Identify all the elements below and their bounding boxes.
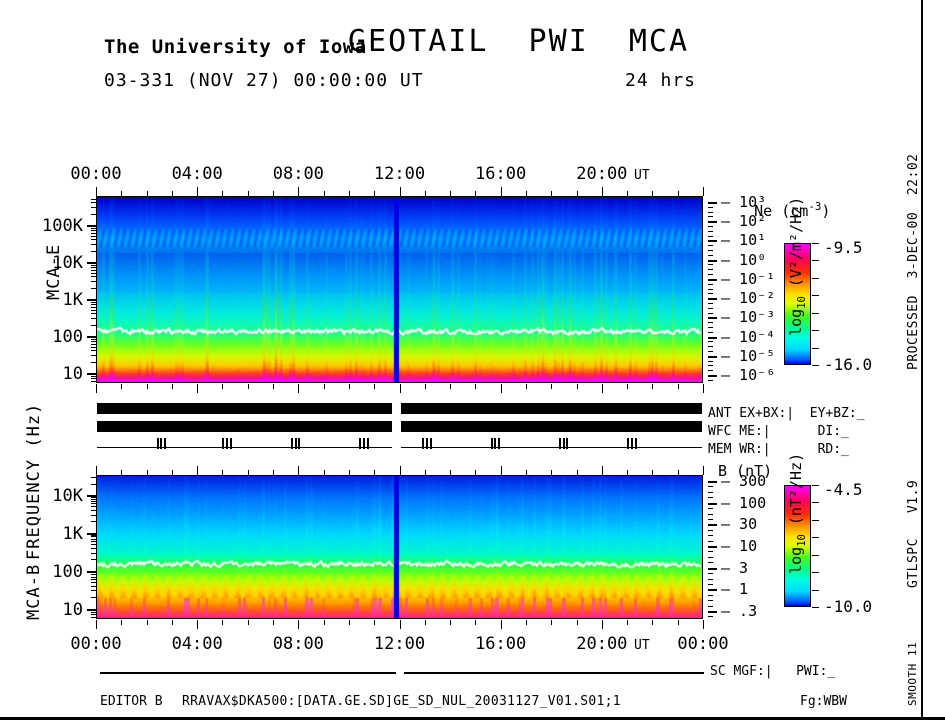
tick-mark [551,191,552,196]
y-tick-label: 100 [25,562,83,582]
tick-mark [551,470,552,475]
y-tick-minor [91,535,96,536]
tick-mark [298,187,299,196]
y-tick-minor [91,214,96,215]
time-tick-row [96,187,703,196]
tick-mark [425,191,426,196]
y-tick-minor [91,233,96,234]
tick-mark [147,620,148,625]
tick-mark [96,187,97,196]
mem-tick [566,438,568,449]
right-tick-minor [708,226,713,227]
right-tick-minor [708,370,713,371]
mem-tick [430,438,432,449]
tick-mark [121,191,122,196]
colorbar-tick [812,607,819,608]
mem-tick [426,438,428,449]
tick-mark [273,384,274,389]
time-label: 04:00 [172,164,223,184]
y-tick-minor [91,559,96,560]
mem-tick [367,438,369,449]
y-tick-minor [91,376,96,377]
right-tick-major [708,375,717,377]
right-axis-label: — 10⁻⁵ [721,347,775,365]
mem-tick [627,438,629,449]
colorbar-tick [812,520,819,521]
y-tick-minor [91,318,96,319]
right-tick-minor [708,274,713,275]
right-tick-minor [708,595,713,596]
time-label: 04:00 [172,634,223,654]
right-axis-label: — 10³ [721,193,766,211]
status-bar-segment [97,421,392,432]
time-label: 16:00 [475,164,526,184]
tick-mark [652,470,653,475]
colorbar-tick [812,330,819,331]
mem-tick [157,438,159,449]
duration-label: 24 hrs [625,72,696,90]
tick-mark [172,384,173,389]
right-tick-minor [708,284,713,285]
tick-mark [602,187,603,196]
right-tick-major [708,221,717,223]
tick-mark [678,470,679,475]
right-tick-minor [708,535,713,536]
y-tick-minor [91,503,96,504]
tick-mark [652,191,653,196]
y-tick-minor [91,610,96,611]
colorbar-e-min-label: -16.0 [824,355,872,374]
spectrogram-canvas [97,476,702,618]
mem-tick [291,438,293,449]
time-label: 08:00 [273,164,324,184]
top-time-axis: 00:0004:0008:0012:0016:0020:00 [96,164,703,184]
time-label: 20:00 [576,634,627,654]
mem-baseline [401,447,702,448]
institution-title: The University of Iowa [104,38,367,57]
right-tick-major [708,240,717,242]
colorbar-tick [812,295,819,296]
mem-tick [559,438,561,449]
tick-mark [678,620,679,625]
tick-mark [450,384,451,389]
right-tick-major [708,356,717,358]
y-tick-minor [91,344,96,345]
y-tick-minor [91,341,96,342]
tick-mark [703,466,704,475]
right-axis-label: — 30 [721,515,757,533]
tick-mark [475,620,476,625]
tick-mark [450,620,451,625]
tick-mark [501,384,502,393]
y-tick-label: 10K [25,253,83,273]
y-tick-label: 100 [25,327,83,347]
tick-mark [501,466,502,475]
tick-mark [526,384,527,389]
right-axis-label: — 10⁻³ [721,308,775,326]
right-tick-major [708,546,717,548]
status-sc-label: SC MGF:| PWI:_ [710,664,835,679]
colorbar-e-units: (V²/m²/Hz) [787,197,805,296]
right-tick-minor [708,255,713,256]
tick-mark [627,191,628,196]
right-tick-minor [708,365,713,366]
right-tick-minor [708,327,713,328]
right-tick-major [708,337,717,339]
tick-mark [96,466,97,475]
y-tick-minor [91,288,96,289]
y-tick-label: 10K [25,486,83,506]
right-tick-minor [708,514,713,515]
tick-mark [678,191,679,196]
time-tick-row [96,384,703,393]
tick-mark [501,620,502,629]
spectrogram-panel-b[interactable] [96,475,703,619]
right-tick-minor [708,207,713,208]
tick-mark [298,620,299,629]
time-label: 12:00 [374,634,425,654]
y-tick-minor [91,579,96,580]
tick-mark [222,470,223,475]
tick-mark [678,384,679,389]
y-tick-minor [91,510,96,511]
y-tick-minor [91,582,96,583]
tick-mark [374,191,375,196]
y-tick-minor [91,590,96,591]
tick-mark [627,384,628,389]
tick-mark [273,191,274,196]
y-tick-minor [91,270,96,271]
mem-tick [498,438,500,449]
y-tick-minor [91,362,96,363]
tick-mark [248,191,249,196]
tick-mark [577,470,578,475]
right-axis-label: — 1 [721,580,748,598]
tick-mark [248,620,249,625]
tick-mark [526,620,527,625]
right-tick-major [708,611,717,613]
colorbar-tick [812,243,819,244]
tick-mark [349,191,350,196]
colorbar-b-caption: log10 (nT²/Hz) [769,453,826,610]
tick-mark [121,620,122,625]
y-tick-minor [91,536,96,537]
tick-mark [96,384,97,393]
page-border-right [921,0,923,720]
right-tick-major [708,481,717,483]
mem-tick [160,438,162,449]
colorbar-e-max-label: -9.5 [824,238,863,257]
colorbar-b-log: log [787,547,805,574]
y-tick-minor [91,617,96,618]
y-tick-minor [91,263,96,264]
right-tick-minor [708,332,713,333]
tick-mark [349,384,350,389]
y-tick-minor [91,572,96,573]
mem-tick [226,438,228,449]
right-tick-minor [708,616,713,617]
y-tick-minor [91,202,96,203]
y-tick-minor [91,337,96,338]
y-tick-minor [91,347,96,348]
tick-mark [172,620,173,625]
right-tick-minor [708,216,713,217]
right-axis-label: — 100 [721,494,766,512]
y-tick-minor [91,477,96,478]
colorbar-b-units: (nT²/Hz) [787,453,805,534]
tick-mark [602,466,603,475]
right-tick-major [708,589,717,591]
right-tick-minor [708,341,713,342]
smooth-label: SMOOTH 11 [906,642,919,706]
tick-mark [400,384,401,393]
y-tick-minor [91,273,96,274]
tick-mark [121,384,122,389]
tick-mark [147,384,148,389]
tick-mark [349,620,350,625]
time-label: 00:00 [70,634,121,654]
colorbar-tick [812,537,819,538]
tick-mark [526,470,527,475]
time-label: 00:00 [677,634,728,654]
y-tick-minor [91,239,96,240]
tick-mark [197,187,198,196]
right-tick-minor [708,245,713,246]
y-tick-minor [91,199,96,200]
colorbar-e-caption: log10 (V²/m²/Hz) [769,197,826,372]
tick-mark [172,470,173,475]
colorbar-b-min-label: -10.0 [824,597,872,616]
mem-tick [422,438,424,449]
colorbar-e-log-sub: 10 [796,296,808,309]
right-tick-major [708,260,717,262]
colorbar-tick [812,365,819,366]
right-tick-minor [708,313,713,314]
y-tick-minor [91,244,96,245]
right-tick-major [708,298,717,300]
right-tick-minor [708,541,713,542]
bottom-time-axis: 00:0004:0008:0012:0016:0020:0000:00 [96,634,703,654]
tick-mark [172,191,173,196]
y-tick-minor [91,548,96,549]
right-axis-label: — 10⁻⁶ [721,366,775,384]
tick-mark [475,191,476,196]
y-tick-minor [91,614,96,615]
right-tick-minor [708,530,713,531]
right-tick-minor [708,264,713,265]
y-tick-minor [91,207,96,208]
tick-mark [425,620,426,625]
right-tick-minor [708,231,713,232]
tick-mark [374,384,375,389]
footer-rule-left [100,672,396,674]
status-bar-segment [97,403,392,414]
tick-mark [602,384,603,393]
y-tick-minor [91,544,96,545]
tick-mark [374,620,375,625]
right-tick-minor [708,486,713,487]
right-axis-label: — 10⁰ [721,251,766,269]
colorbar-tick [812,590,819,591]
right-tick-minor [708,557,713,558]
colorbar-tick [812,572,819,573]
time-label: 00:00 [70,164,121,184]
y-tick-label: 1K [25,290,83,310]
right-tick-minor [708,600,713,601]
right-axis-label: — 10 [721,537,757,555]
tick-mark [703,620,704,629]
spectrogram-b-image [97,476,702,618]
right-tick-minor [708,303,713,304]
mem-tick [563,438,565,449]
right-tick-minor [708,361,713,362]
y-tick-minor [91,251,96,252]
colorbar-b-log-sub: 10 [796,534,808,547]
mem-tick [491,438,493,449]
y-tick-minor [91,276,96,277]
y-tick-minor [91,484,96,485]
y-tick-minor [91,515,96,516]
right-tick-minor [708,212,713,213]
right-tick-minor [708,308,713,309]
y-tick-minor [91,265,96,266]
spectrogram-panel-e[interactable] [96,196,703,383]
right-tick-major [708,202,717,204]
status-ant-label: ANT EX+BX:| EY+BZ:_ [708,406,865,421]
tick-mark [324,470,325,475]
time-label: 16:00 [475,634,526,654]
right-axis-label: — 300 [721,472,766,490]
tick-mark [577,191,578,196]
right-axis-label: — 10⁻⁴ [721,328,775,346]
y-tick-minor [91,310,96,311]
right-tick-major [708,279,717,281]
right-tick-minor [708,584,713,585]
colorbar-tick [812,348,819,349]
tick-mark [197,466,198,475]
colorbar-b-max-label: -4.5 [824,480,863,499]
y-tick-minor [91,506,96,507]
tick-mark [147,470,148,475]
y-tick-minor [91,236,96,237]
tick-mark [96,620,97,629]
tick-mark [298,384,299,393]
tick-mark [222,191,223,196]
y-tick-minor [91,325,96,326]
date-line: 03-331 (NOV 27) 00:00:00 UT [104,72,424,90]
y-tick-minor [91,501,96,502]
y-tick-label: 1K [25,524,83,544]
right-tick-minor [708,579,713,580]
top-ut-label: UT [634,168,650,183]
tick-mark [197,620,198,629]
y-tick-minor [91,586,96,587]
y-tick-minor [91,339,96,340]
right-axis-label: — 10¹ [721,231,766,249]
y-tick-label: 10 [25,364,83,384]
tick-mark [577,620,578,625]
mem-tick [298,438,300,449]
tick-mark [248,384,249,389]
tick-mark [222,384,223,389]
colorbar-e-log: log [787,309,805,336]
right-tick-major [708,568,717,570]
y-tick-minor [91,597,96,598]
mem-tick [222,438,224,449]
tick-mark [147,191,148,196]
right-tick-minor [708,236,713,237]
tick-mark [374,470,375,475]
y-tick-minor [91,497,96,498]
right-tick-minor [708,508,713,509]
y-tick-minor [91,499,96,500]
right-tick-minor [708,562,713,563]
editor-label: EDITOR B [100,694,163,709]
y-tick-minor [91,226,96,227]
right-axis-label: — 10² [721,212,766,230]
mem-tick [363,438,365,449]
right-tick-minor [708,346,713,347]
y-tick-minor [91,521,96,522]
tick-mark [475,470,476,475]
bottom-ut-label: UT [634,638,650,653]
time-label: 20:00 [576,164,627,184]
right-tick-major [708,317,717,319]
tick-mark [627,470,628,475]
version-label: GTLSPC V1.9 [906,480,921,588]
time-tick-row [96,466,703,475]
tick-mark [349,470,350,475]
right-tick-minor [708,289,713,290]
right-tick-minor [708,322,713,323]
y-tick-label: 10 [25,600,83,620]
right-tick-minor [708,497,713,498]
tick-mark [425,470,426,475]
right-axis-label: — .3 [721,602,757,620]
tick-mark [501,187,502,196]
mem-tick [494,438,496,449]
right-tick-minor [708,269,713,270]
y-tick-minor [91,374,96,375]
tick-mark [248,470,249,475]
footer-rule-right [404,672,704,674]
status-wfc-label: WFC ME:| DI:_ [708,424,849,439]
right-tick-minor [708,573,713,574]
y-tick-minor [91,612,96,613]
mem-tick [631,438,633,449]
time-label: 08:00 [273,634,324,654]
tick-mark [627,620,628,625]
right-axis-label: — 10⁻¹ [721,270,775,288]
tick-mark [400,466,401,475]
colorbar-tick [812,555,819,556]
right-tick-minor [708,551,713,552]
tick-mark [551,384,552,389]
right-tick-major [708,524,717,526]
y-tick-minor [91,302,96,303]
right-tick-minor [708,492,713,493]
y-tick-minor [91,541,96,542]
y-tick-minor [91,267,96,268]
y-tick-minor [91,378,96,379]
tick-mark [602,620,603,629]
tick-mark [324,384,325,389]
colorbar-tick [812,278,819,279]
colorbar-tick [812,260,819,261]
spectrogram-page: The University of Iowa GEOTAIL PWI MCA 0… [0,0,945,720]
y-tick-minor [91,577,96,578]
tick-mark [703,384,704,393]
